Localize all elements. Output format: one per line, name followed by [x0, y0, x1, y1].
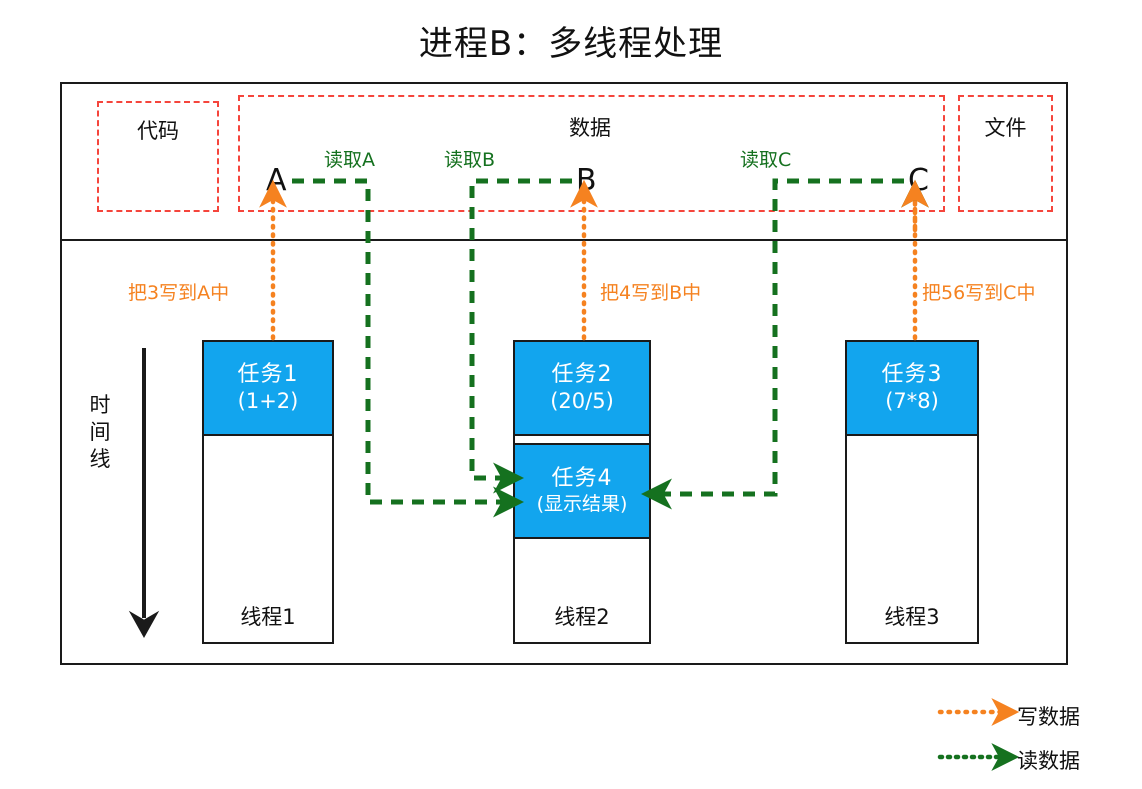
legend: 写数据 读数据 [935, 694, 1135, 782]
timeline-char-3: 线 [86, 446, 114, 473]
legend-write-label: 写数据 [1017, 701, 1080, 731]
write-b-label: 把4写到B中 [600, 278, 701, 305]
legend-row-write: 写数据 [935, 694, 1135, 738]
read-c-label: 读取C [740, 145, 791, 172]
legend-write-swatch [935, 706, 1005, 726]
variable-b: B [576, 166, 597, 196]
code-region-label: 代码 [97, 115, 219, 145]
legend-row-read: 读数据 [935, 738, 1135, 782]
variable-a: A [266, 166, 287, 196]
thread-2-label: 线程2 [513, 601, 651, 631]
task-block-2[interactable]: 任务2 (20/5) [513, 340, 651, 436]
task-1-expression: (1+2) [238, 389, 299, 415]
task-block-4[interactable]: 任务4 (显示结果) [513, 443, 651, 539]
read-a-label: 读取A [324, 145, 375, 172]
write-c-label: 把56写到C中 [922, 278, 1035, 305]
task-3-title: 任务3 [882, 362, 943, 389]
write-a-label: 把3写到A中 [128, 278, 229, 305]
diagram-canvas: 进程B：多线程处理 代码 数据 文件 A B C 读取A 读取B 读取C 把3写… [0, 0, 1142, 789]
task-block-1[interactable]: 任务1 (1+2) [202, 340, 334, 436]
thread-1-label: 线程1 [202, 601, 334, 631]
thread-3-label: 线程3 [845, 601, 979, 631]
task-4-title: 任务4 [552, 466, 613, 493]
read-b-label: 读取B [444, 145, 495, 172]
legend-read-label: 读数据 [1017, 745, 1080, 775]
page-title: 进程B：多线程处理 [0, 16, 1142, 65]
timeline-label: 时 间 线 [86, 392, 114, 473]
legend-read-swatch [935, 750, 1005, 770]
task-2-title: 任务2 [552, 362, 613, 389]
timeline-char-2: 间 [86, 419, 114, 446]
memory-thread-divider [60, 239, 1068, 241]
variable-c: C [908, 166, 929, 196]
task-3-expression: (7*8) [885, 389, 939, 415]
file-region-label: 文件 [958, 112, 1053, 142]
task-2-expression: (20/5) [550, 389, 614, 415]
timeline-char-1: 时 [86, 392, 114, 419]
task-block-3[interactable]: 任务3 (7*8) [845, 340, 979, 436]
task-1-title: 任务1 [238, 362, 299, 389]
data-region-label: 数据 [540, 112, 640, 142]
task-4-expression: (显示结果) [537, 493, 628, 516]
